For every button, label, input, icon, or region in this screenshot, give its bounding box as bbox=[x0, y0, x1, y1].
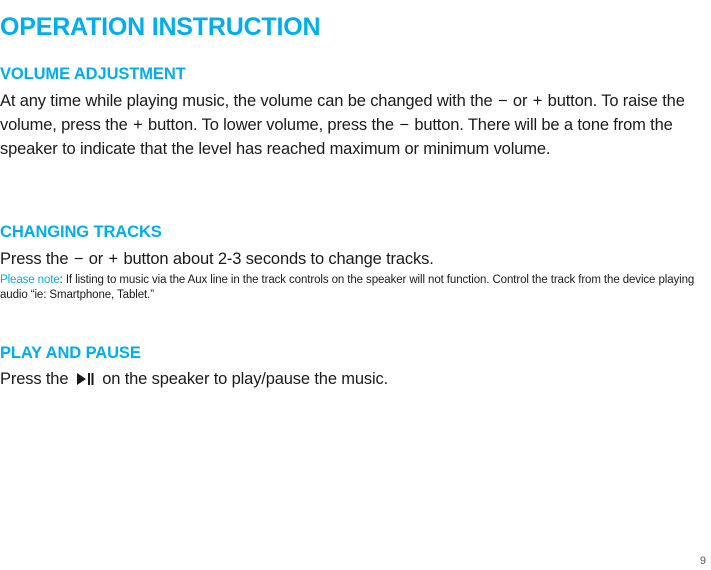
tracks-text-part2: or bbox=[84, 250, 107, 268]
volume-text-part1: At any time while playing music, the vol… bbox=[0, 92, 497, 110]
minus-symbol: − bbox=[73, 250, 85, 268]
page-title: OPERATION INSTRUCTION bbox=[0, 13, 320, 42]
section-note-changing-tracks: Please note: If listing to music via the… bbox=[0, 273, 711, 304]
minus-symbol: − bbox=[497, 92, 509, 110]
play-pause-icon bbox=[77, 368, 94, 380]
plus-symbol: + bbox=[132, 116, 144, 134]
minus-symbol: − bbox=[398, 116, 410, 134]
section-heading-play-and-pause: PLAY AND PAUSE bbox=[0, 344, 141, 362]
section-body-play-and-pause: Press the on the speaker to play/pause t… bbox=[0, 367, 620, 391]
note-body: : If listing to music via the Aux line i… bbox=[0, 274, 694, 302]
page-number: 9 bbox=[700, 555, 706, 567]
plus-symbol: + bbox=[108, 250, 120, 268]
section-heading-volume-adjustment: VOLUME ADJUSTMENT bbox=[0, 65, 186, 83]
tracks-text-part1: Press the bbox=[0, 250, 73, 268]
volume-text-part2: or bbox=[509, 92, 532, 110]
section-body-volume-adjustment: At any time while playing music, the vol… bbox=[0, 89, 711, 161]
section-heading-changing-tracks: CHANGING TRACKS bbox=[0, 223, 162, 241]
document-page: OPERATION INSTRUCTION VOLUME ADJUSTMENT … bbox=[0, 0, 711, 570]
volume-text-part4: button. To lower volume, press the bbox=[144, 116, 399, 134]
play-text-part2: on the speaker to play/pause the music. bbox=[98, 370, 388, 388]
note-label: Please note bbox=[0, 274, 60, 286]
play-text-part1: Press the bbox=[0, 370, 73, 388]
plus-symbol: + bbox=[532, 92, 544, 110]
tracks-text-part3: button about 2-3 seconds to change track… bbox=[119, 250, 434, 268]
section-body-changing-tracks: Press the − or + button about 2-3 second… bbox=[0, 247, 620, 271]
